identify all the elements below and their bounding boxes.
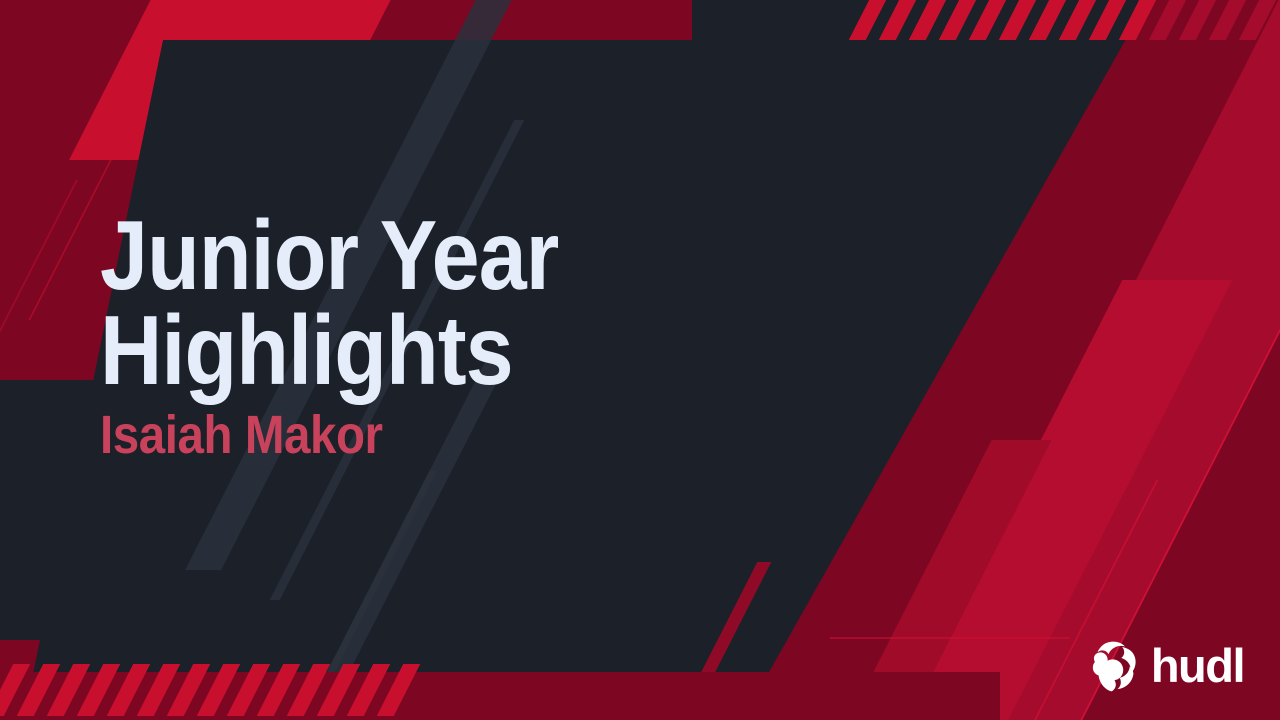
accent-band-right-inner <box>818 440 1051 720</box>
hudl-mark-icon <box>1088 638 1142 692</box>
decor-stripe <box>287 664 330 716</box>
decor-stripe <box>227 664 270 716</box>
decor-stripe <box>347 664 390 716</box>
accent-slash-in-navy <box>699 562 772 677</box>
decor-stripe <box>1239 0 1280 40</box>
hairline-right-outer <box>1065 150 1280 720</box>
title-block: Junior Year Highlights Isaiah Makor <box>100 208 860 462</box>
decor-stripe <box>257 664 300 716</box>
hairline-horizontal <box>830 637 1070 639</box>
page-title-line-1: Junior Year <box>100 208 769 303</box>
accent-slash-gap <box>720 540 801 680</box>
hudl-logo: hudl <box>1088 638 1244 692</box>
accent-band-right-outer <box>871 0 1280 720</box>
decor-stripe <box>317 664 360 716</box>
hudl-wordmark: hudl <box>1151 642 1244 689</box>
decor-stripe <box>909 0 952 40</box>
stripes-top-right <box>862 0 1280 26</box>
decor-stripe <box>1209 0 1252 40</box>
decor-stripe <box>197 664 240 716</box>
decor-stripe <box>1179 0 1222 40</box>
decor-stripe <box>47 664 90 716</box>
stripes-bottom-left <box>0 676 420 702</box>
decor-stripe <box>1029 0 1072 40</box>
decor-stripe <box>1059 0 1102 40</box>
decor-stripe <box>849 0 892 40</box>
hairline-left-lower <box>0 180 78 360</box>
decor-stripe <box>107 664 150 716</box>
decor-stripe <box>879 0 922 40</box>
athlete-name: Isaiah Makor <box>100 408 769 462</box>
navy-streak-4 <box>302 470 437 720</box>
decor-stripe <box>167 664 210 716</box>
accent-wedge-top-left <box>69 0 411 160</box>
page-title-line-2: Highlights <box>100 303 769 398</box>
decor-stripe <box>939 0 982 40</box>
decor-stripe <box>137 664 180 716</box>
decor-stripe <box>1119 0 1162 40</box>
bottom-red-band <box>0 672 1000 720</box>
decor-stripe <box>77 664 120 716</box>
decor-stripe <box>969 0 1012 40</box>
highlight-title-card: Junior Year Highlights Isaiah Makor hudl <box>0 0 1280 720</box>
decor-stripe <box>377 664 420 716</box>
decor-stripe <box>17 664 60 716</box>
decor-stripe <box>1149 0 1192 40</box>
decor-stripe <box>1089 0 1132 40</box>
decor-stripe <box>0 664 30 716</box>
decor-stripe <box>999 0 1042 40</box>
